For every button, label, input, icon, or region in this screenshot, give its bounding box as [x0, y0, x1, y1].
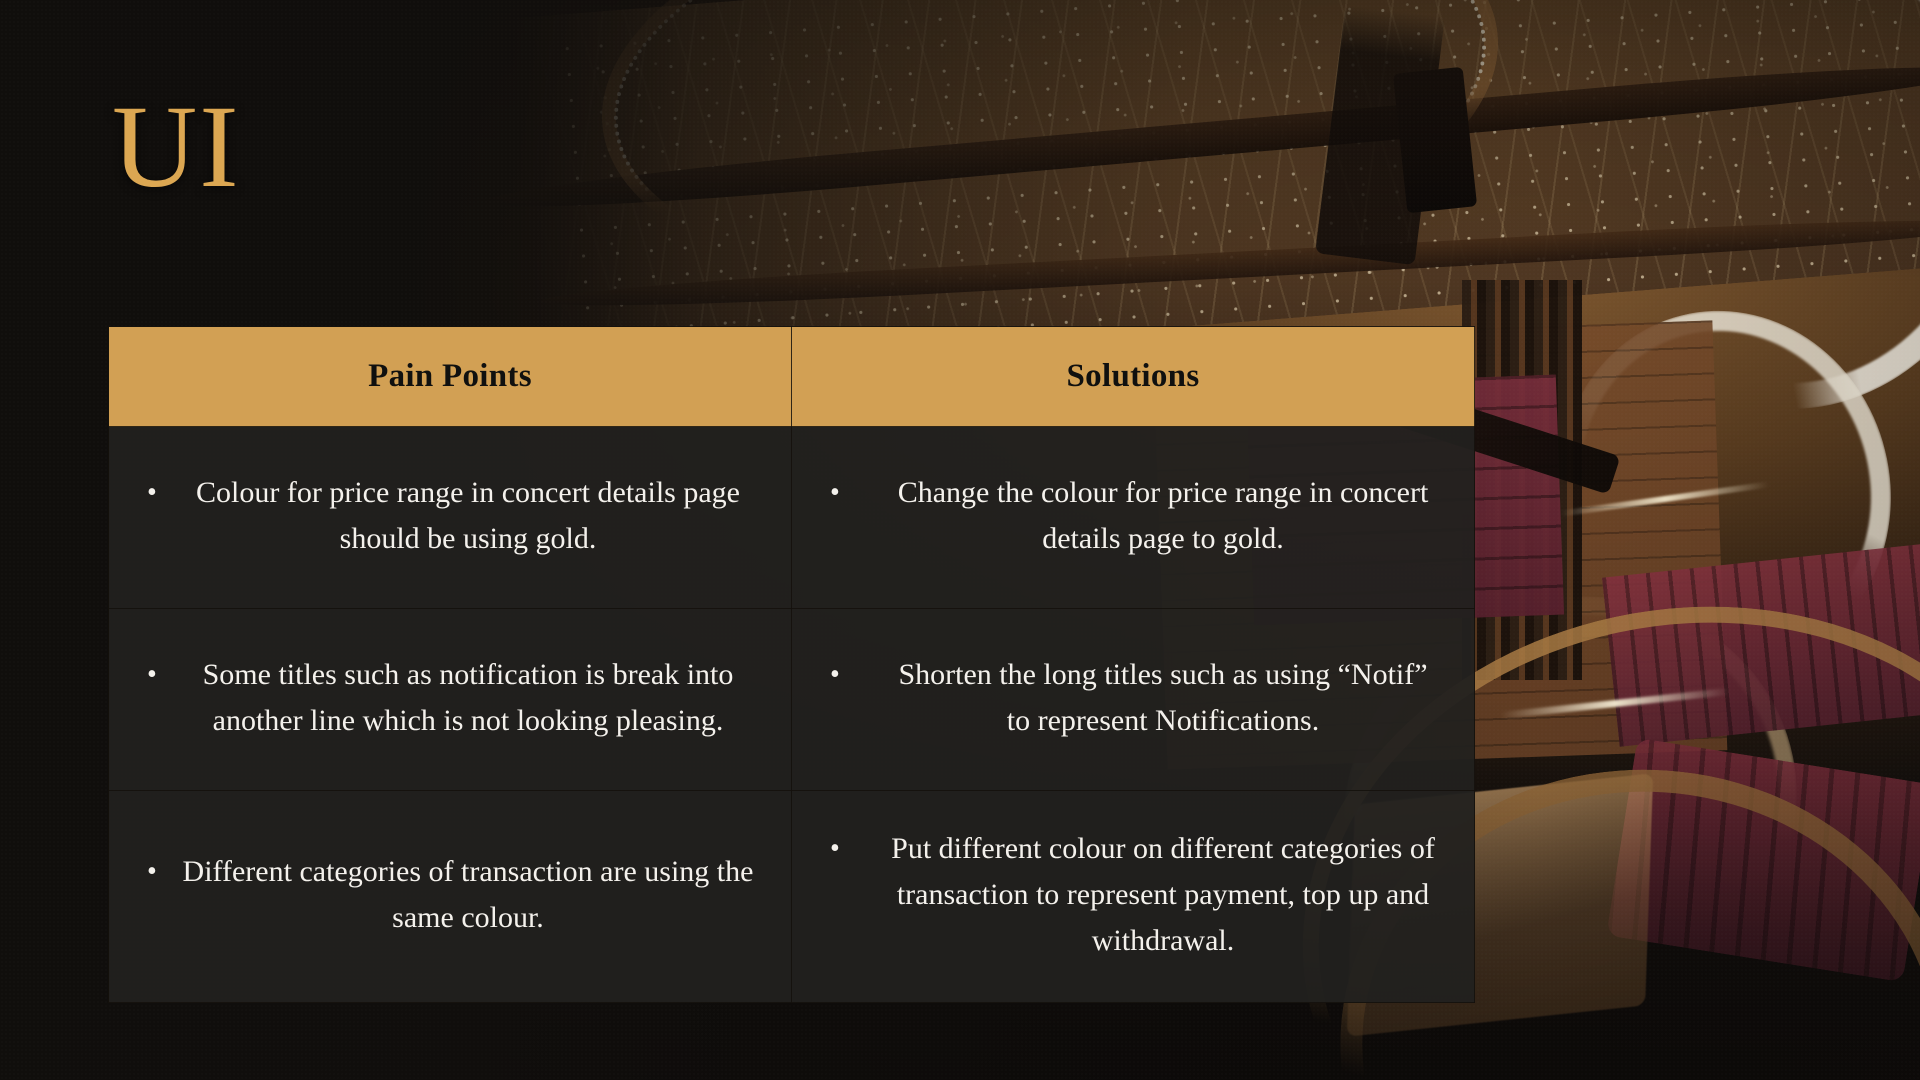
bullet-icon: •: [143, 652, 179, 698]
pain-point-text-2: Some titles such as notification is brea…: [179, 652, 757, 744]
table-header-row: Pain Points Solutions: [109, 327, 1475, 427]
bullet-icon: •: [826, 652, 886, 698]
bullet-icon: •: [143, 470, 179, 516]
solution-text-1: Change the colour for price range in con…: [886, 470, 1440, 562]
pain-point-text-1: Colour for price range in concert detail…: [179, 470, 757, 562]
table-body: • Colour for price range in concert deta…: [109, 427, 1475, 1003]
list-item: • Shorten the long titles such as using …: [826, 652, 1440, 744]
page-title: UI: [112, 88, 241, 206]
list-item: • Change the colour for price range in c…: [826, 470, 1440, 562]
list-item: • Different categories of transaction ar…: [143, 849, 757, 941]
table-row: • Some titles such as notification is br…: [109, 609, 1475, 791]
pain-points-solutions-table: Pain Points Solutions • Colour for price…: [108, 326, 1474, 1003]
solution-text-2: Shorten the long titles such as using “N…: [886, 652, 1440, 744]
cell-pain-3: • Different categories of transaction ar…: [109, 791, 792, 1003]
column-header-pain-points: Pain Points: [109, 327, 792, 427]
slide-canvas: UI Pain Points Solutions • Colour for pr…: [0, 0, 1920, 1080]
comparison-table: Pain Points Solutions • Colour for price…: [108, 326, 1475, 1003]
cell-solution-1: • Change the colour for price range in c…: [792, 427, 1475, 609]
list-item: • Some titles such as notification is br…: [143, 652, 757, 744]
cell-solution-3: • Put different colour on different cate…: [792, 791, 1475, 1003]
column-header-solutions: Solutions: [792, 327, 1475, 427]
bullet-icon: •: [143, 849, 179, 895]
table-row: • Different categories of transaction ar…: [109, 791, 1475, 1003]
bullet-icon: •: [826, 470, 886, 516]
cell-pain-1: • Colour for price range in concert deta…: [109, 427, 792, 609]
table-header: Pain Points Solutions: [109, 327, 1475, 427]
pain-point-text-3: Different categories of transaction are …: [179, 849, 757, 941]
cell-pain-2: • Some titles such as notification is br…: [109, 609, 792, 791]
bullet-icon: •: [826, 826, 886, 872]
list-item: • Colour for price range in concert deta…: [143, 470, 757, 562]
cell-solution-2: • Shorten the long titles such as using …: [792, 609, 1475, 791]
solution-text-3: Put different colour on different catego…: [886, 826, 1440, 964]
list-item: • Put different colour on different cate…: [826, 826, 1440, 964]
table-row: • Colour for price range in concert deta…: [109, 427, 1475, 609]
